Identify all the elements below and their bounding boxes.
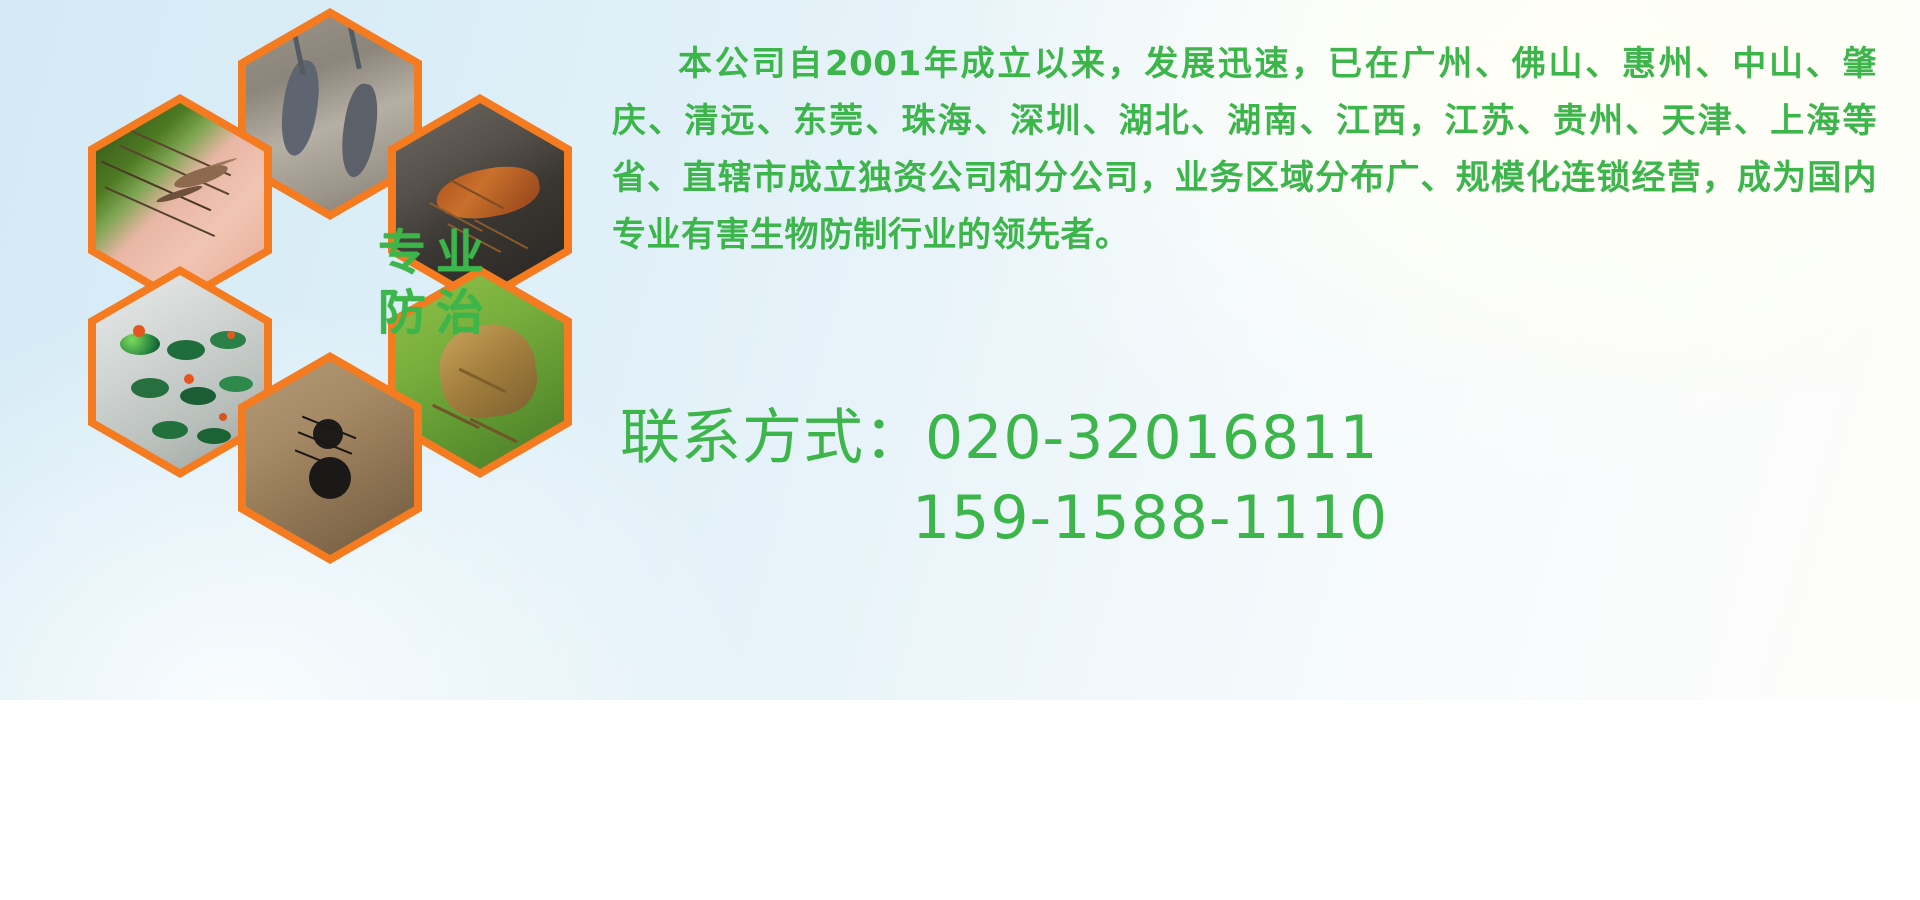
intro-copy-block: 本公司自2001年成立以来，发展迅速，已在广州、佛山、惠州、中山、肇庆、清远、东…: [612, 36, 1877, 264]
intro-paragraph: 本公司自2001年成立以来，发展迅速，已在广州、佛山、惠州、中山、肇庆、清远、东…: [612, 36, 1877, 264]
honeycomb-photo-cluster: 专业 防治: [88, 8, 588, 556]
phone-mobile[interactable]: 159-1588-1110: [912, 483, 1388, 553]
slogan-line-2: 防治: [368, 288, 494, 338]
slogan-line-1: 专业: [368, 228, 494, 278]
contact-row-mobile: 159-1588-1110: [620, 478, 1880, 558]
phone-landline[interactable]: 020-32016811: [925, 403, 1379, 473]
slogan-block: 专业 防治: [338, 188, 524, 378]
contact-label: 联系方式：: [620, 403, 925, 473]
contact-block: 联系方式：020-32016811 159-1588-1110: [620, 398, 1880, 558]
contact-row-landline: 联系方式：020-32016811: [620, 398, 1880, 478]
promotional-banner: 专业 防治 本公司自2001年成立以来，发展迅速，已在广州、佛山、惠州、中山、肇…: [0, 0, 1920, 700]
